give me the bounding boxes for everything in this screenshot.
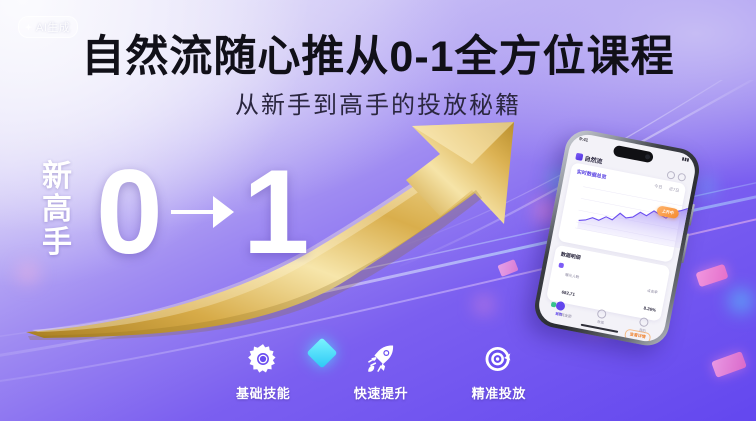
hero-zero-to-one: 0 1 xyxy=(96,152,308,272)
glow-cyan-3 xyxy=(697,178,715,196)
data-item-clicks: 点击率 8.26% xyxy=(642,279,661,317)
page-title: 自然流随心推从0-1全方位课程 xyxy=(0,36,756,79)
data-label-clicks: 点击率 xyxy=(647,289,658,295)
vertical-badge: 新 高 手 xyxy=(42,162,72,258)
data-item-impressions: 曝光人数 682,71 xyxy=(553,261,582,301)
signal-wifi-battery-icon: ▮▮▮ xyxy=(681,156,689,163)
phone-screen: 9:41 ▮▮▮ 自然流 实时数据总览 xyxy=(536,132,698,345)
hero-from-number: 0 xyxy=(96,152,161,272)
data-value-impressions: 682,71 xyxy=(561,289,575,296)
feature-basic-skills[interactable]: 基础技能 xyxy=(236,342,290,402)
hero-to-number: 1 xyxy=(243,152,308,272)
app-name: 自然流 xyxy=(584,153,603,165)
gear-icon xyxy=(246,342,280,376)
sparkle-icon xyxy=(24,23,33,32)
vertical-badge-char-1: 新 xyxy=(42,162,72,192)
glow-cyan-2 xyxy=(726,286,756,316)
shard-pink-bottom xyxy=(711,351,747,378)
feature-basic-skills-label: 基础技能 xyxy=(236,383,290,402)
vertical-badge-char-2: 高 xyxy=(42,195,72,225)
home-icon xyxy=(555,300,566,311)
phone-volume-button xyxy=(689,204,695,226)
data-value-spend: 930.1 xyxy=(554,329,566,336)
phone-mockup: 9:41 ▮▮▮ 自然流 实时数据总览 xyxy=(531,127,703,349)
tab-data-label: 数据 xyxy=(597,319,605,325)
shard-pink-right xyxy=(695,264,728,288)
menu-icon[interactable] xyxy=(677,172,686,181)
chart-range-today[interactable]: 今日 xyxy=(654,183,663,190)
app-logo-icon xyxy=(575,153,583,161)
phone-power-button xyxy=(681,233,689,263)
search-icon[interactable] xyxy=(666,170,675,179)
profile-icon xyxy=(639,316,650,327)
tab-profile[interactable]: 我的 xyxy=(638,316,650,333)
impressions-icon xyxy=(558,262,564,268)
feature-precise-delivery-label: 精准投放 xyxy=(472,383,526,402)
feature-fast-growth[interactable]: 快速提升 xyxy=(354,342,408,402)
data-icon xyxy=(597,308,608,319)
app-bar-actions[interactable] xyxy=(666,170,686,181)
rocket-icon xyxy=(364,342,398,376)
status-time: 9:41 xyxy=(579,136,589,144)
ai-watermark-label: AI生成 xyxy=(36,19,70,35)
glow-pink-2 xyxy=(15,262,41,284)
shard-pink-left xyxy=(497,259,518,277)
data-value-clicks: 8.26% xyxy=(643,305,656,312)
page-subtitle: 从新手到高手的投放秘籍 xyxy=(0,94,756,118)
data-label-impressions: 曝光人数 xyxy=(565,273,580,280)
feature-fast-growth-label: 快速提升 xyxy=(354,383,408,402)
tab-profile-label: 我的 xyxy=(639,327,647,333)
glow-pink-3 xyxy=(472,296,496,314)
feature-row: 基础技能 快速提升 xyxy=(236,342,526,402)
tab-data[interactable]: 数据 xyxy=(596,308,608,325)
feature-precise-delivery[interactable]: 精准投放 xyxy=(472,342,526,402)
tab-home-label: 首页 xyxy=(555,311,563,317)
promo-poster: AI生成 xyxy=(0,0,756,421)
tab-home[interactable]: 首页 xyxy=(554,300,566,317)
arrow-right-icon xyxy=(167,189,237,235)
target-icon xyxy=(482,342,516,376)
ai-watermark-badge: AI生成 xyxy=(18,16,78,38)
phone-body: 9:41 ▮▮▮ 自然流 实时数据总览 xyxy=(531,127,703,349)
vertical-badge-char-3: 手 xyxy=(42,228,72,258)
